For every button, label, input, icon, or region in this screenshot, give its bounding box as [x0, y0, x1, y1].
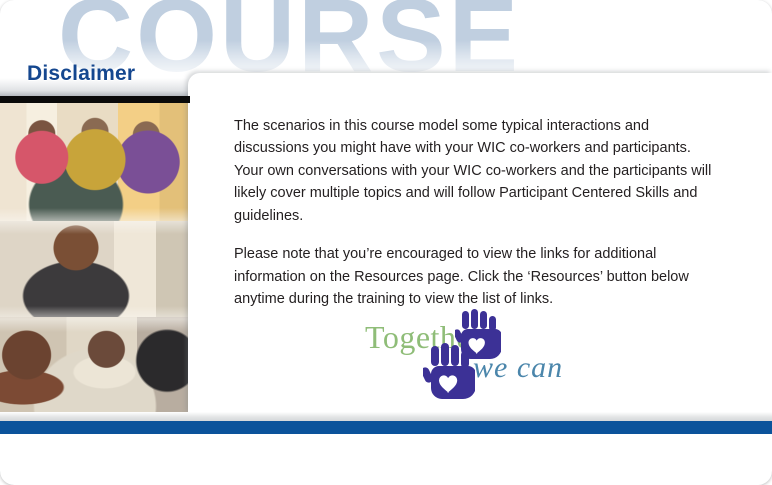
together-we-can-logo: Together [365, 311, 591, 395]
footer-accent-bar [0, 421, 772, 434]
handprint-icon [423, 343, 475, 399]
disclaimer-paragraph-1: The scenarios in this course model some … [234, 115, 722, 227]
disclaimer-paragraph-2: Please note that you’re encouraged to vi… [234, 243, 722, 310]
course-window: COURSE Disclaimer The scenarios in this … [0, 0, 772, 485]
page-title: Disclaimer [27, 62, 135, 86]
logo-word-we-can: we can [473, 351, 563, 385]
participant-standing-photo [0, 221, 190, 317]
footer-divider [0, 412, 772, 421]
disclaimer-body: The scenarios in this course model some … [234, 115, 722, 311]
footer-navigation-tray[interactable] [0, 434, 772, 485]
counselor-handshake-photo [0, 317, 190, 412]
clinic-staff-greeting-photo [0, 103, 190, 221]
photo-collage-panel [0, 96, 190, 412]
content-card: The scenarios in this course model some … [188, 73, 772, 414]
photo-top-black-bar [0, 96, 190, 103]
